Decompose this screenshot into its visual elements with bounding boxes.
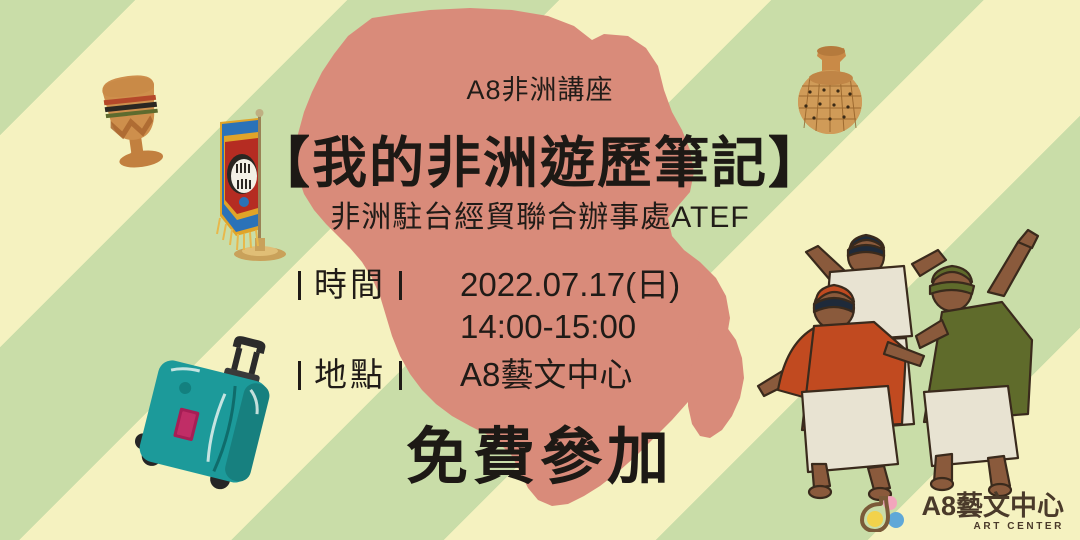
goblet-illustration <box>88 56 174 174</box>
suitcase-illustration <box>128 328 286 496</box>
dancers-illustration <box>756 224 1072 502</box>
poster-canvas: A8非洲講座 【我的非洲遊歷筆記】 非洲駐台經貿聯合辦事處ATEF 時間 202… <box>0 0 1080 540</box>
logo-mark-icon <box>860 494 912 532</box>
logo-text-group: A8藝文中心 ART CENTER <box>921 493 1064 532</box>
logo-subtitle: ART CENTER <box>921 522 1064 532</box>
a8-art-center-logo: A8藝文中心 ART CENTER <box>860 493 1064 532</box>
eswatini-flag-illustration <box>206 108 318 272</box>
logo-title: A8藝文中心 <box>921 493 1064 520</box>
gourd-vase-illustration <box>784 22 878 140</box>
